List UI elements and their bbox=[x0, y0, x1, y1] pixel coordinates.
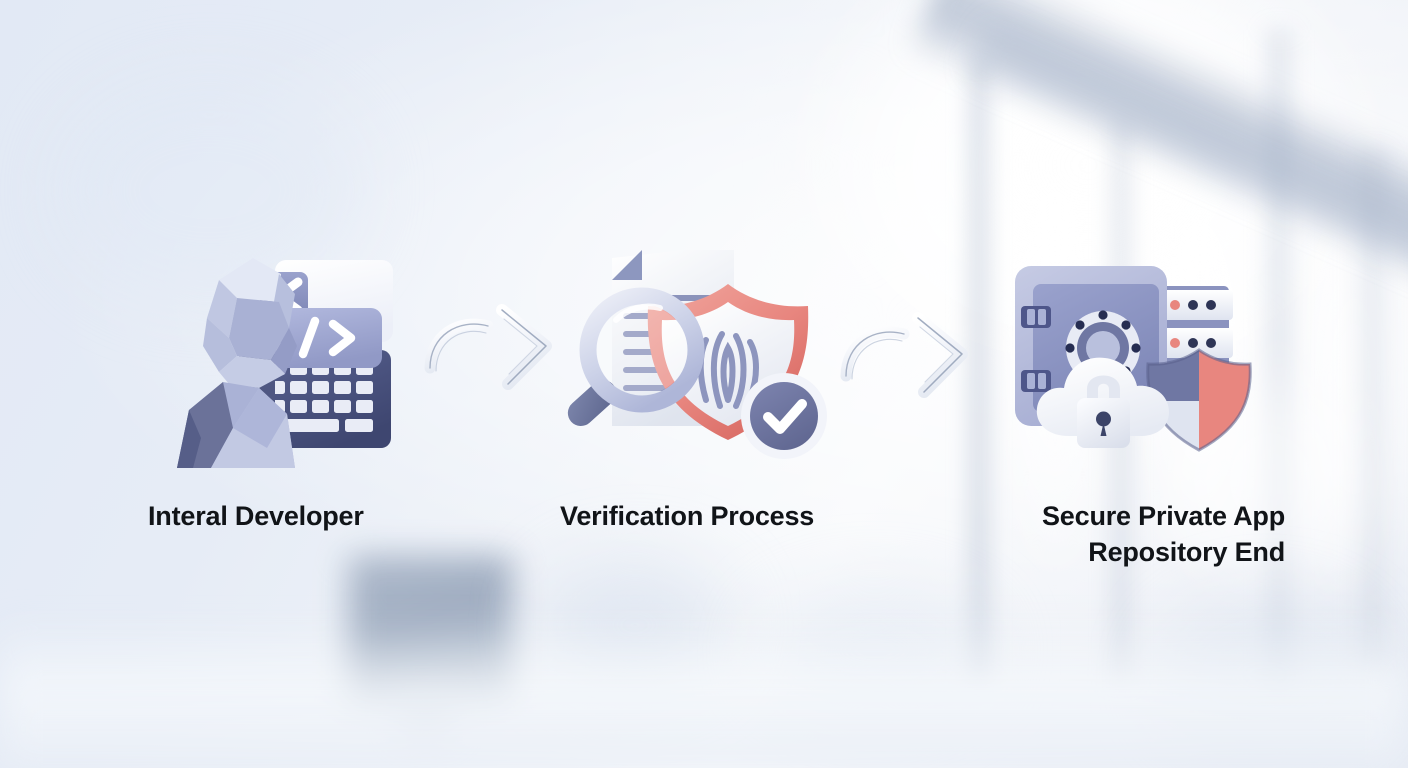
developer-avatar-svg bbox=[163, 242, 403, 472]
flow-connector-arrow-2 bbox=[840, 308, 980, 400]
flow-node-developer[interactable] bbox=[163, 242, 403, 472]
glass-chevron-arrow-icon bbox=[424, 300, 564, 392]
flow-node-label-repository: Secure Private App Repository End bbox=[960, 498, 1285, 570]
flow-node-repository[interactable] bbox=[1003, 258, 1263, 473]
secure-repository-icon bbox=[1003, 258, 1263, 473]
verification-icon bbox=[556, 240, 846, 470]
check-badge-icon bbox=[741, 373, 827, 459]
flow-node-verification[interactable] bbox=[556, 240, 846, 470]
flow-node-label-developer: Interal Developer bbox=[148, 498, 468, 534]
flow-connector-arrow-1 bbox=[424, 300, 564, 392]
low-poly-person-icon bbox=[177, 258, 297, 468]
process-flow-diagram: Interal Developer bbox=[0, 0, 1408, 768]
glass-chevron-arrow-icon bbox=[840, 308, 980, 400]
developer-avatar-icon bbox=[163, 242, 403, 472]
verification-svg bbox=[556, 240, 846, 470]
flow-node-label-verification: Verification Process bbox=[560, 498, 880, 534]
secure-repository-svg bbox=[1003, 258, 1263, 473]
